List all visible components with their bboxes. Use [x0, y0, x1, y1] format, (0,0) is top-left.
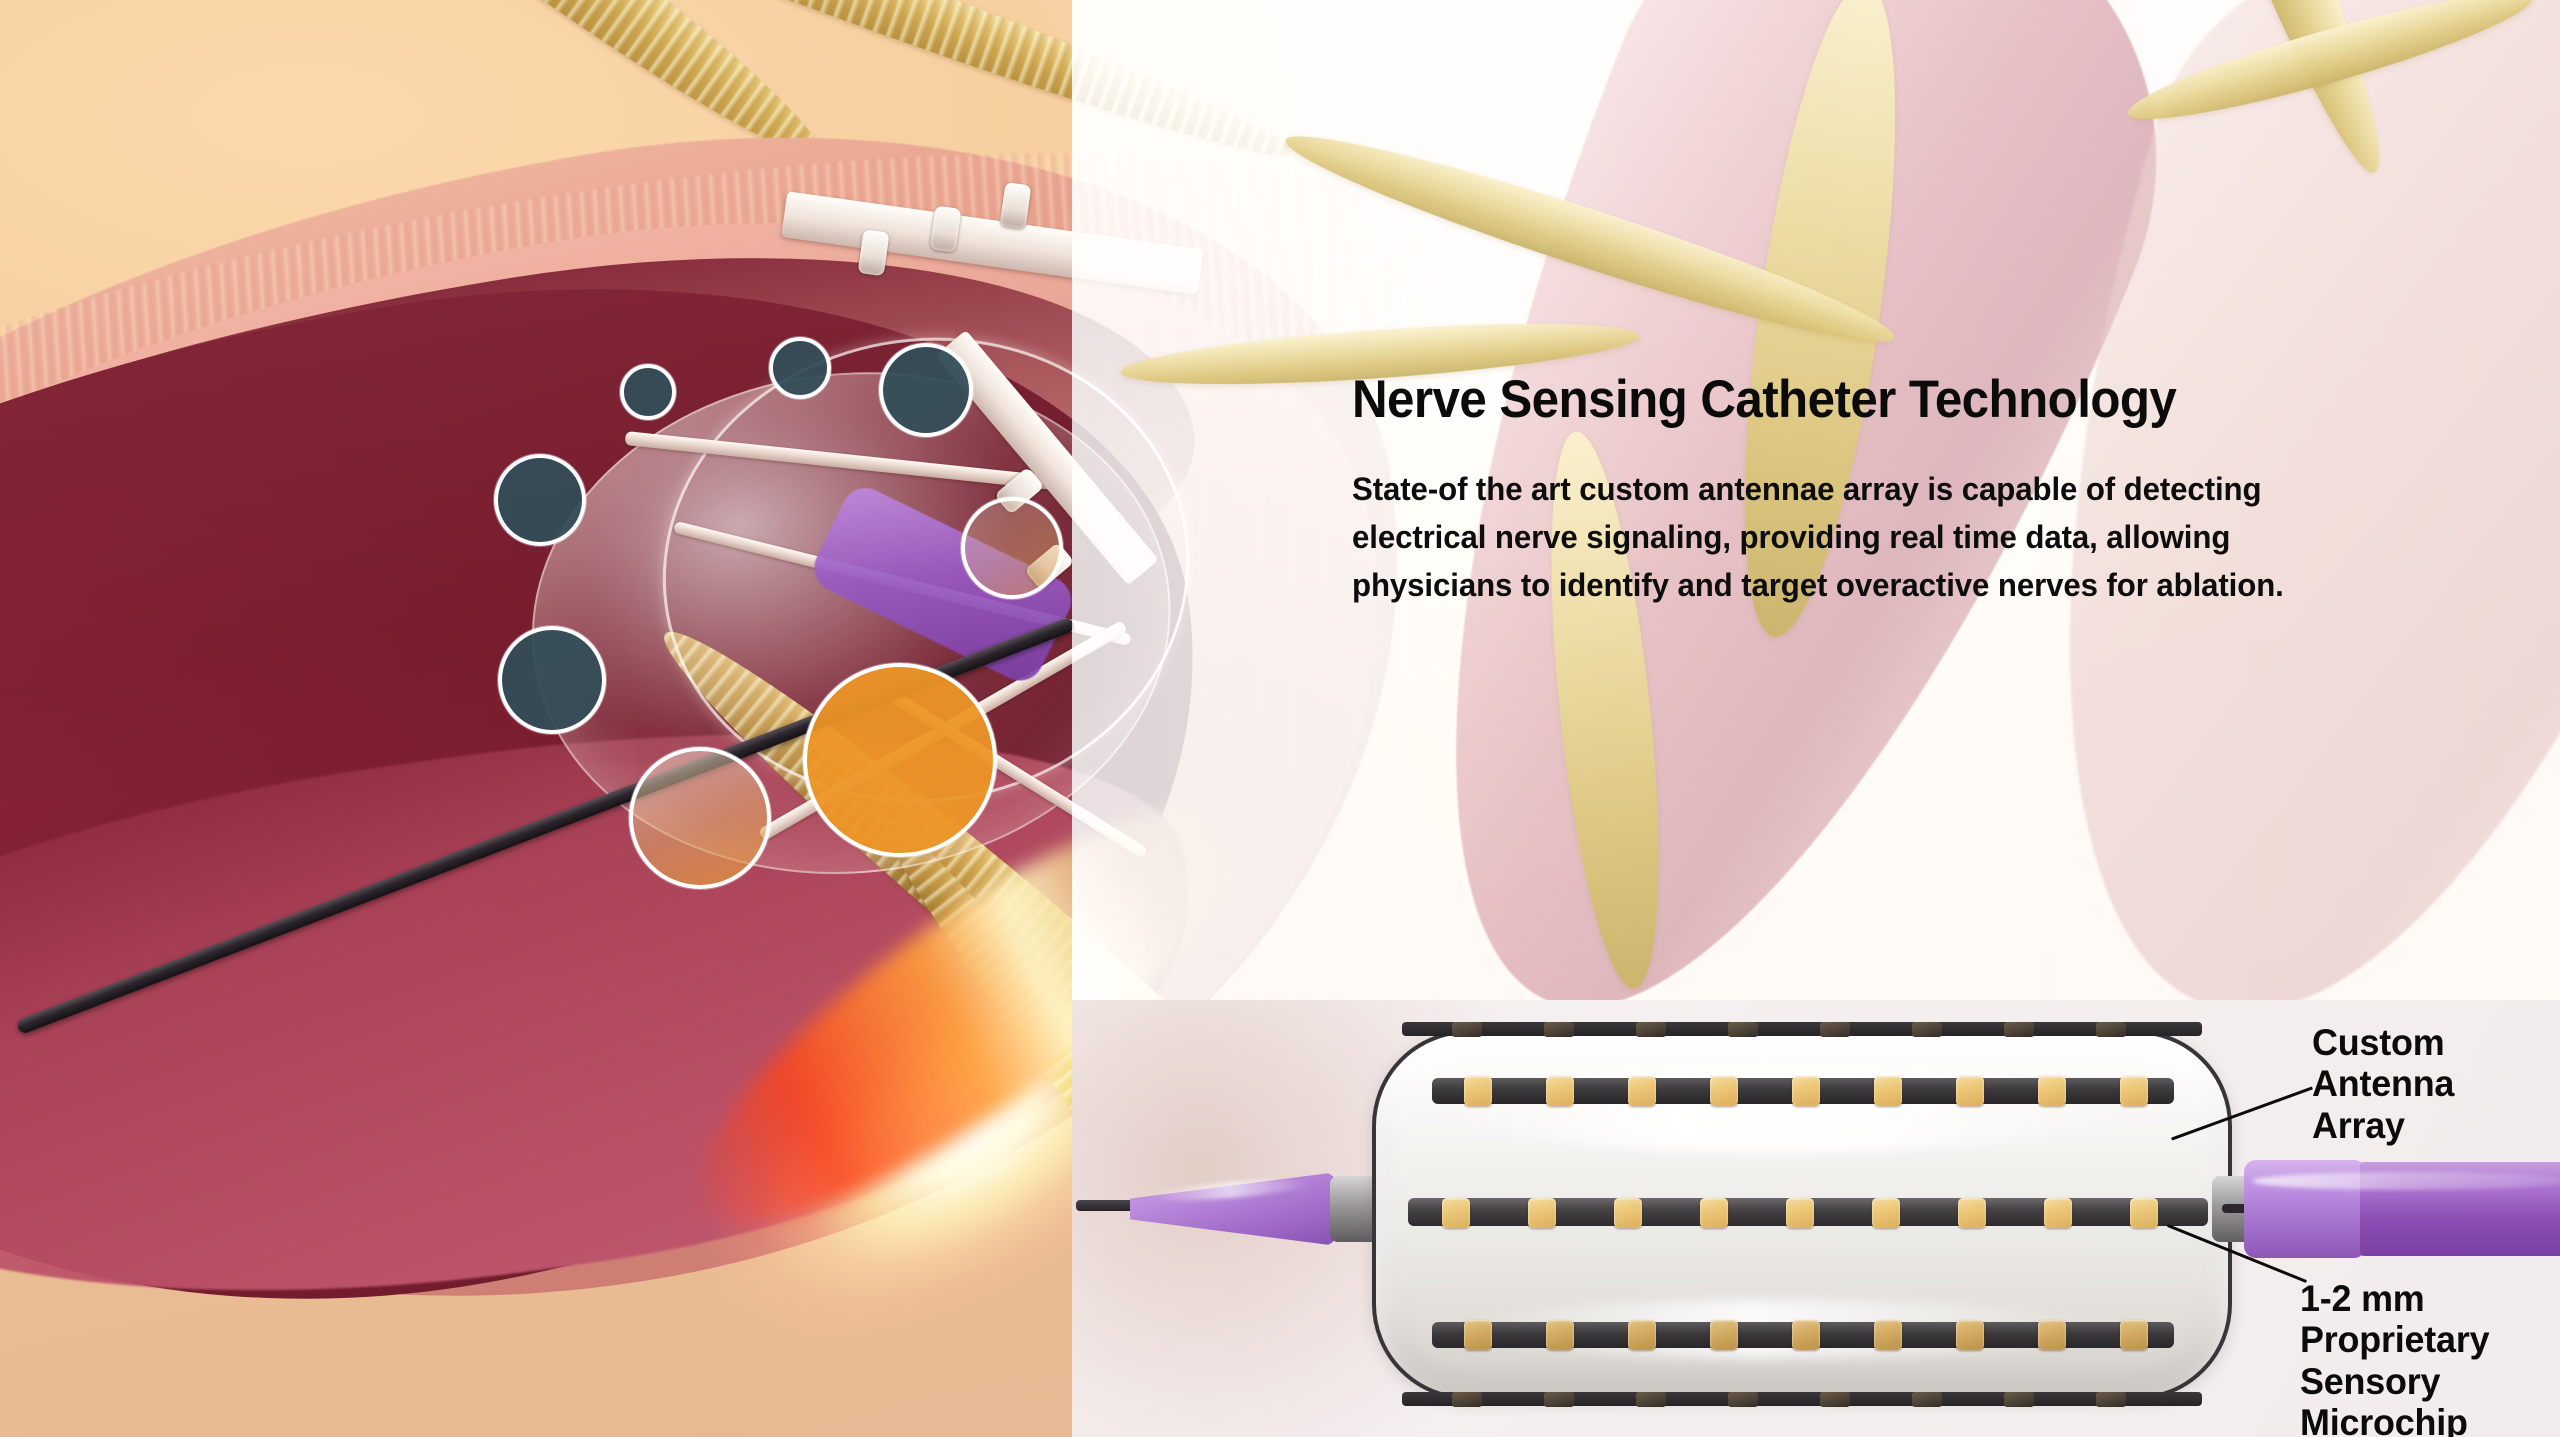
sensory-microchip — [1528, 1198, 1556, 1228]
sensory-microchip — [1958, 1198, 1986, 1228]
nerve-signal-marker-inactive — [769, 337, 831, 399]
nerve-signal-marker-neutral — [629, 747, 771, 889]
sensory-microchip — [1452, 1392, 1482, 1407]
callout-antenna-array-line2: Antenna Array — [2312, 1063, 2553, 1146]
sensory-microchip — [1636, 1022, 1666, 1037]
sensory-microchip — [1628, 1076, 1656, 1106]
sensory-microchip — [1710, 1320, 1738, 1350]
nerve-signal-marker-inactive — [498, 626, 606, 734]
sensory-microchip — [2130, 1198, 2158, 1228]
sensory-microchip — [1728, 1392, 1758, 1407]
nerve-signal-marker-inactive — [879, 343, 973, 437]
sensory-microchip — [2038, 1320, 2066, 1350]
sensory-microchip — [1874, 1076, 1902, 1106]
callout-antenna-array: Custom Antenna Array — [2312, 1022, 2553, 1146]
guidewire-tip — [1076, 1200, 1138, 1211]
sensory-microchip — [2044, 1198, 2072, 1228]
sensory-microchip — [1464, 1320, 1492, 1350]
sensory-microchip — [1912, 1022, 1942, 1037]
sensory-microchip — [1544, 1022, 1574, 1037]
sensory-microchip — [1820, 1022, 1850, 1037]
infographic-canvas: Nerve Sensing Catheter Technology State-… — [0, 0, 2560, 1437]
nerve-signal-marker-neutral — [961, 497, 1063, 599]
callout-sensory-microchip: 1-2 mm Proprietary Sensory Microchip — [2300, 1278, 2552, 1437]
nerve-signal-marker-inactive — [620, 364, 676, 420]
sensory-microchip — [1628, 1320, 1656, 1350]
device-detail-inset: Custom Antenna Array 1-2 mm Proprietary … — [1072, 1000, 2560, 1437]
sensory-microchip — [1728, 1022, 1758, 1037]
sensory-microchip — [1636, 1392, 1666, 1407]
sensory-microchip — [1956, 1320, 1984, 1350]
page-title: Nerve Sensing Catheter Technology — [1352, 372, 2394, 428]
nerve-signal-marker-inactive — [494, 454, 586, 546]
sensory-microchip — [1872, 1198, 1900, 1228]
sensory-microchip — [1710, 1076, 1738, 1106]
sensory-microchip — [1786, 1198, 1814, 1228]
callout-sensory-microchip-line1: 1-2 mm Proprietary — [2300, 1278, 2552, 1361]
sensory-microchip — [1956, 1076, 1984, 1106]
sensory-microchip — [1792, 1320, 1820, 1350]
callout-sensory-microchip-line2: Sensory Microchip — [2300, 1361, 2552, 1437]
sensory-microchip — [1912, 1392, 1942, 1407]
sensory-microchip — [1700, 1198, 1728, 1228]
sensory-microchip — [1546, 1076, 1574, 1106]
sensory-microchip — [2120, 1076, 2148, 1106]
sensory-microchip — [1874, 1320, 1902, 1350]
text-block: Nerve Sensing Catheter Technology State-… — [1352, 372, 2472, 609]
sensory-microchip — [2004, 1392, 2034, 1407]
antenna-rail-edge — [1402, 1022, 2202, 1036]
sensory-microchip — [2038, 1076, 2066, 1106]
antenna-rail-edge — [1402, 1392, 2202, 1406]
sensory-microchip — [1820, 1392, 1850, 1407]
sensory-microchip — [1792, 1076, 1820, 1106]
callout-antenna-array-line1: Custom — [2312, 1022, 2553, 1063]
sensory-microchip — [1544, 1392, 1574, 1407]
sensory-microchip — [2004, 1022, 2034, 1037]
sensory-microchip — [2096, 1392, 2126, 1407]
catheter-shaft-highlight — [2252, 1172, 2560, 1190]
sensory-microchip — [1546, 1320, 1574, 1350]
sensory-microchip — [2120, 1320, 2148, 1350]
sensory-microchip — [2096, 1022, 2126, 1037]
sensory-microchip — [1614, 1198, 1642, 1228]
sensory-microchip — [1452, 1022, 1482, 1037]
sensory-microchip — [1442, 1198, 1470, 1228]
body-paragraph: State-of the art custom antennae array i… — [1352, 466, 2370, 609]
nerve-signal-marker-active — [803, 663, 997, 857]
sensory-microchip — [1464, 1076, 1492, 1106]
